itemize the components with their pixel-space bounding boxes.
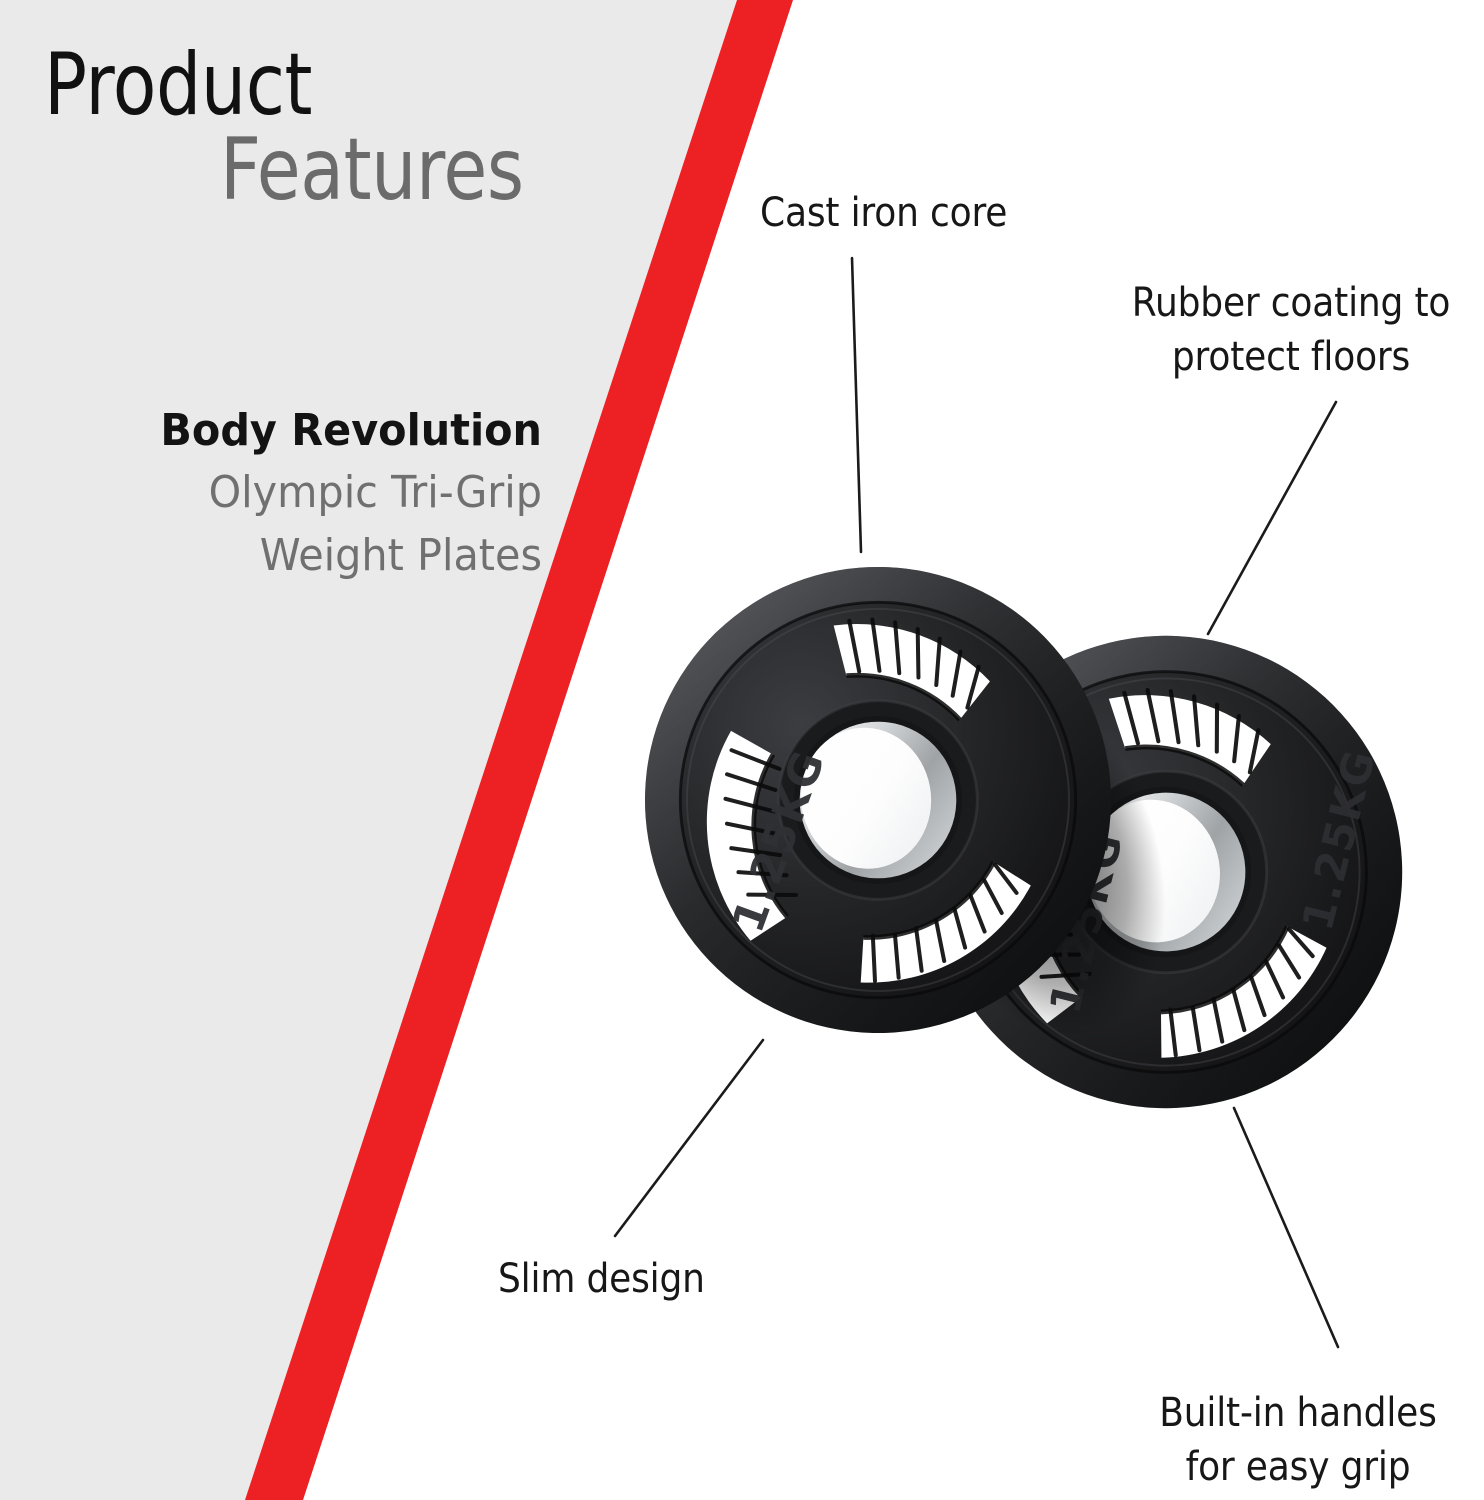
- product-image-weight-plates: 1.25KG 1.25KG 1.25KG: [0, 0, 1484, 1500]
- callout-label-rubber-coating: Rubber coating to protect floors: [1117, 276, 1464, 385]
- callout-label-cast-iron-core: Cast iron core: [760, 186, 1007, 240]
- callout-label-built-in-handles: Built-in handles for easy grip: [1131, 1386, 1466, 1495]
- callout-label-slim-design: Slim design: [498, 1252, 705, 1306]
- product-features-infographic: Product Features Body Revolution Olympic…: [0, 0, 1484, 1500]
